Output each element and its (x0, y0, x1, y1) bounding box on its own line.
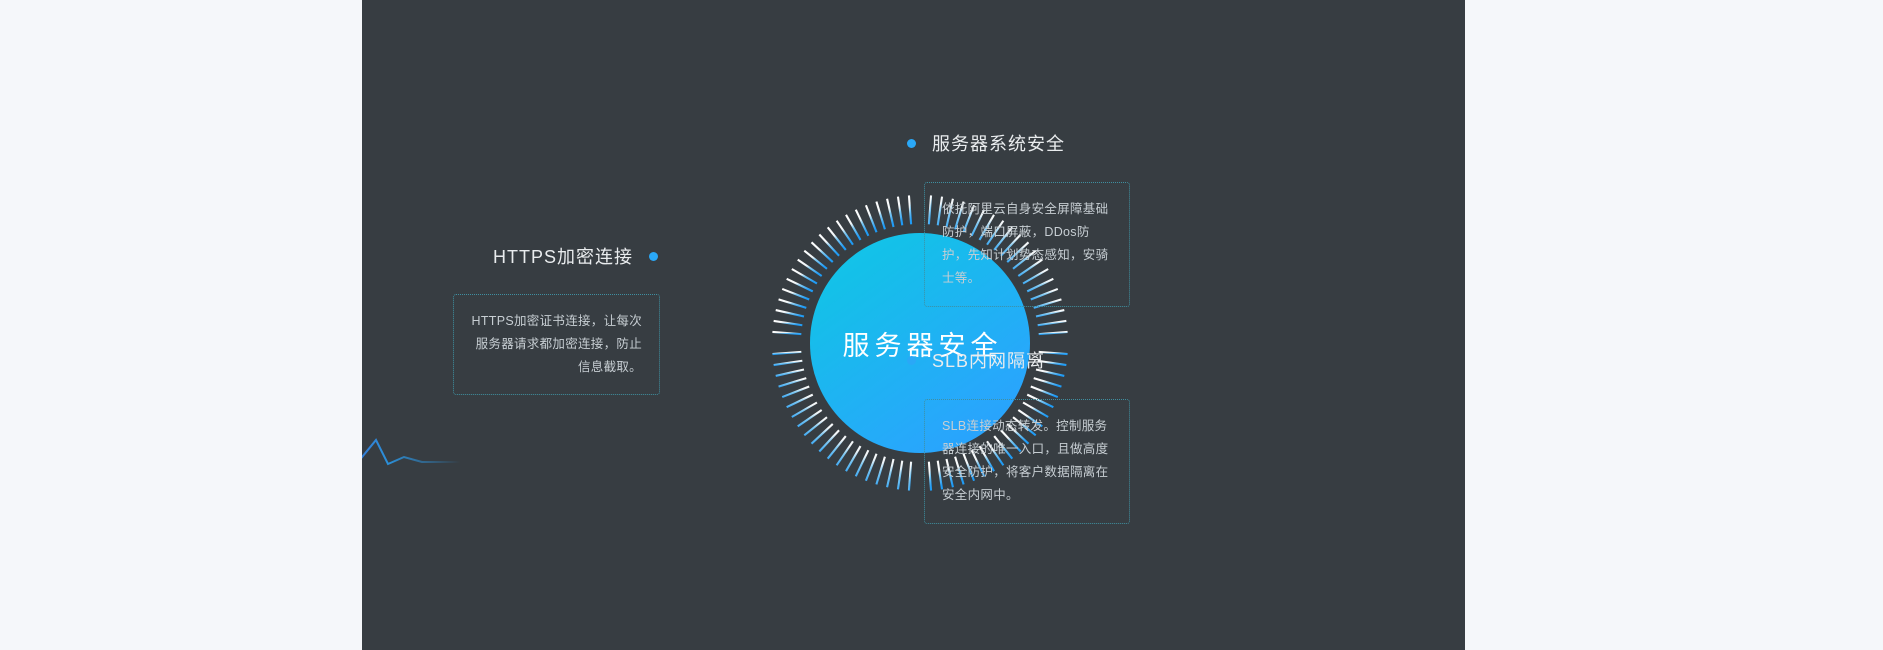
callout-server-system: 服务器系统安全 依托阿里云自身安全屏障基础防护，端口屏蔽，DDos防护，先知计划… (907, 130, 1167, 307)
callout-slb: SLB内网隔离 SLB连接动态转发。控制服务器连接的唯一入口，且做高度安全防护，… (907, 347, 1167, 524)
callout-slb-body: SLB连接动态转发。控制服务器连接的唯一入口，且做高度安全防护，将客户数据隔离在… (924, 399, 1130, 524)
callout-server-system-body: 依托阿里云自身安全屏障基础防护，端口屏蔽，DDos防护，先知计划势态感知，安骑士… (924, 182, 1130, 307)
callout-slb-title: SLB内网隔离 (932, 347, 1045, 373)
callout-slb-header: SLB内网隔离 (907, 347, 1167, 373)
bullet-dot-icon (907, 356, 916, 365)
callout-https: HTTPS加密连接 HTTPS加密证书连接，让每次服务器请求都加密连接，防止信息… (408, 243, 660, 395)
callout-server-system-header: 服务器系统安全 (907, 130, 1167, 156)
callout-https-body: HTTPS加密证书连接，让每次服务器请求都加密连接，防止信息截取。 (453, 294, 660, 395)
screenshot-stage: 服务器安全 HTTPS加密连接 HTTPS加密证书连接，让每次服务器请求都加密连… (0, 0, 1883, 650)
waveform-decoration (362, 424, 460, 484)
dark-content-panel: 服务器安全 HTTPS加密连接 HTTPS加密证书连接，让每次服务器请求都加密连… (362, 0, 1465, 650)
bullet-dot-icon (649, 252, 658, 261)
callout-https-title: HTTPS加密连接 (493, 243, 633, 269)
callout-server-system-title: 服务器系统安全 (932, 130, 1065, 156)
bullet-dot-icon (907, 139, 916, 148)
callout-https-header: HTTPS加密连接 (408, 243, 660, 269)
